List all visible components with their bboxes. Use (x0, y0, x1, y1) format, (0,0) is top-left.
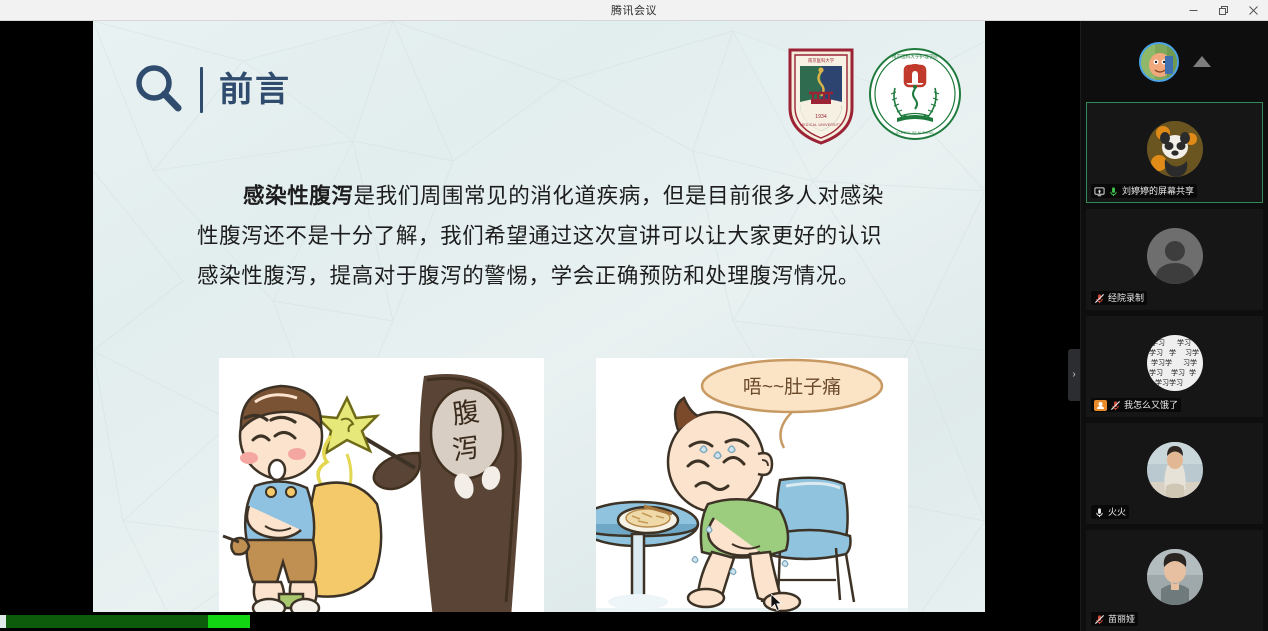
microphone-on-icon (1108, 186, 1119, 197)
svg-text:学习: 学习 (1177, 338, 1191, 347)
microphone-muted-icon (1094, 293, 1105, 304)
avatar: 学习学习 学习学习学 学习学习学 学习学习学 学习学习 (1147, 335, 1203, 391)
restore-button[interactable] (1208, 0, 1238, 21)
participant-name: 我怎么又饿了 (1124, 398, 1178, 412)
svg-text:习学: 习学 (1185, 348, 1199, 357)
minimize-button[interactable] (1178, 0, 1208, 21)
participant-label: 经院录制 (1091, 291, 1147, 305)
progress-cap (0, 615, 6, 628)
scroll-up-indicator[interactable] (1193, 56, 1211, 67)
svg-text:南京医科大学: 南京医科大学 (808, 57, 835, 64)
participant-tile-2[interactable]: 学习学习 学习学习学 学习学习学 学习学习学 学习学习 (1086, 316, 1263, 417)
svg-text:南京医科大学护理学院: 南京医科大学护理学院 (892, 53, 938, 60)
tencent-meeting-window: 腾讯会议 (0, 0, 1268, 631)
slide-title: 前言 (219, 73, 291, 107)
participant-tile-0[interactable]: 刘婷婷的屏幕共享 (1086, 102, 1263, 203)
header-divider (200, 67, 203, 113)
nanjing-medical-university-logo: 南京医科大学 1934 MEDICAL UNIVERSITY (787, 46, 855, 146)
presentation-slide: 前言 南京医科大学 1934 MEDIC (93, 21, 985, 624)
participant-label: 刘婷婷的屏幕共享 (1091, 184, 1197, 198)
microphone-muted-icon (1094, 614, 1105, 625)
svg-text:学习: 学习 (1149, 348, 1163, 357)
host-badge (1094, 400, 1107, 411)
slide-body-text: 感染性腹泻是我们周围常见的消化道疾病，但是目前很多人对感染性腹泻还不是十分了解，… (197, 176, 897, 296)
microphone-muted-icon (1110, 400, 1121, 411)
slide-illustrations: 腹 泻 (219, 358, 908, 623)
svg-text:MEDICAL UNIVERSITY: MEDICAL UNIVERSITY (800, 123, 842, 127)
body-bold-lead: 感染性腹泻 (243, 184, 354, 208)
participant-rail[interactable]: 刘婷婷的屏幕共享 经院录制 学习学习 (1080, 21, 1268, 631)
rail-header (1081, 21, 1268, 102)
participant-label: 火火 (1091, 505, 1129, 519)
illustration-child-stomachache-at-table: 唔~~肚子痛 (596, 358, 908, 623)
participant-name: 苗丽娅 (1108, 612, 1135, 626)
participant-name: 经院录制 (1108, 291, 1144, 305)
participant-tile-3[interactable]: 火火 (1086, 423, 1263, 524)
svg-text:学: 学 (1169, 348, 1176, 357)
participant-tile-1[interactable]: 经院录制 (1086, 209, 1263, 310)
svg-text:泻: 泻 (450, 432, 481, 465)
svg-text:学习: 学习 (1151, 338, 1165, 347)
participant-name: 刘婷婷的屏幕共享 (1122, 184, 1194, 198)
participant-label: 苗丽娅 (1091, 612, 1138, 626)
search-icon (130, 61, 188, 119)
title-bar: 腾讯会议 (0, 0, 1268, 21)
participant-label: 我怎么又饿了 (1091, 398, 1181, 412)
microphone-on-icon (1094, 507, 1105, 518)
avatar (1147, 442, 1203, 498)
svg-text:学习: 学习 (1149, 368, 1163, 377)
window-controls (1178, 0, 1268, 21)
participant-name: 火火 (1108, 505, 1126, 519)
collapse-panel-button[interactable]: › (1068, 349, 1080, 401)
shared-screen-stage[interactable]: 前言 南京医科大学 1934 MEDIC (0, 21, 1080, 631)
progress-fill (0, 615, 208, 628)
svg-text:学习: 学习 (1171, 368, 1185, 377)
avatar (1147, 549, 1203, 605)
progress-head (208, 615, 250, 628)
svg-text:腹: 腹 (450, 396, 481, 429)
svg-text:学习学习: 学习学习 (1155, 378, 1183, 387)
avatar (1147, 228, 1203, 284)
chevron-right-icon: › (1072, 370, 1075, 380)
svg-text:习学: 习学 (1183, 358, 1197, 367)
avatar (1147, 121, 1203, 177)
participant-tile-4[interactable]: 苗丽娅 (1086, 530, 1263, 631)
svg-text:唔~~肚子痛: 唔~~肚子痛 (743, 376, 841, 398)
svg-text:学: 学 (1189, 368, 1196, 377)
screen-share-icon (1094, 186, 1105, 197)
loading-progress-bar (0, 612, 1080, 631)
nmu-school-of-nursing-logo: 南京医科大学护理学院 SCHOOL OF NURSING (867, 46, 963, 142)
slide-header: 前言 (130, 61, 291, 119)
self-avatar[interactable] (1139, 42, 1179, 82)
close-button[interactable] (1238, 0, 1268, 21)
svg-text:学习学: 学习学 (1151, 358, 1172, 367)
university-logos: 南京医科大学 1934 MEDICAL UNIVERSITY (787, 46, 963, 146)
svg-text:SCHOOL OF NURSING: SCHOOL OF NURSING (896, 131, 934, 135)
mouse-cursor (771, 594, 783, 612)
svg-text:1934: 1934 (815, 114, 827, 120)
illustration-boy-attacked-by-diarrhea: 腹 泻 (219, 358, 544, 623)
window-title: 腾讯会议 (611, 2, 657, 18)
